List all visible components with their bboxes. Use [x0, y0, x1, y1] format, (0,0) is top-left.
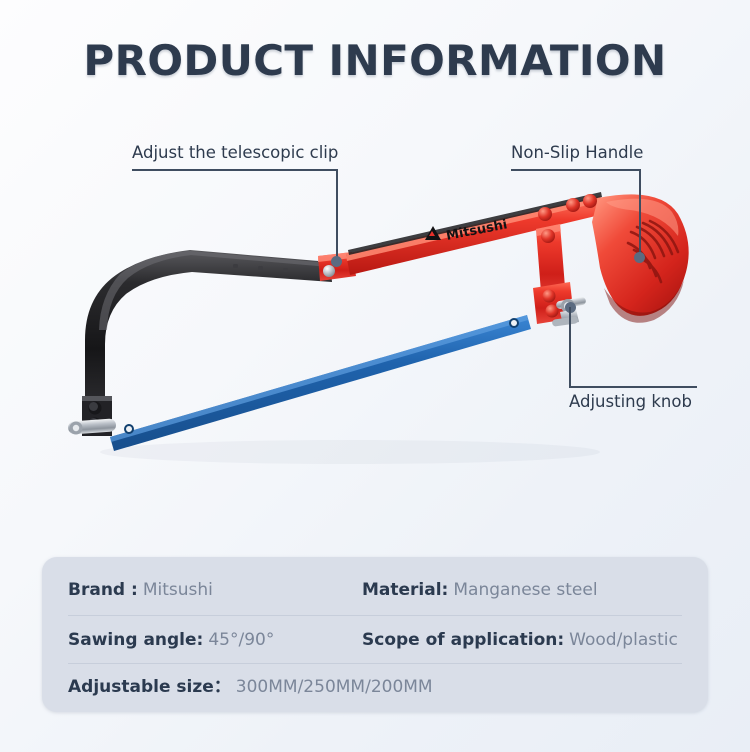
tool-shadow — [100, 440, 600, 464]
leader-line-knob-horizontal — [569, 386, 697, 388]
spec-cell-adjustable-size: Adjustable size：300MM/250MM/200MM — [68, 662, 433, 712]
spec-cell-brand: Brand :Mitsushi — [68, 565, 213, 615]
spec-label: Material: — [362, 580, 448, 600]
saw-blade — [110, 315, 531, 451]
callout-label-adjusting-knob: Adjusting knob — [569, 392, 692, 411]
leader-line-handle-horizontal — [511, 169, 641, 171]
hacksaw-svg: Mitsushi — [0, 0, 750, 540]
spec-label: Sawing angle: — [68, 630, 203, 650]
spec-label: Brand : — [68, 580, 138, 600]
product-information-page: PRODUCT INFORMATION — [0, 0, 750, 752]
leader-line-knob-vertical — [569, 307, 571, 387]
spec-value: Mitsushi — [138, 580, 213, 600]
spec-cell-sawing-angle: Sawing angle:45°/90° — [68, 615, 274, 665]
spec-cell-scope: Scope of application:Wood/plastic — [362, 615, 678, 665]
spec-value: Manganese steel — [448, 580, 597, 600]
spec-row: Adjustable size：300MM/250MM/200MM — [42, 662, 708, 712]
specification-panel: Brand :Mitsushi Material:Manganese steel… — [42, 557, 708, 712]
hacksaw-illustration: Mitsushi — [0, 0, 750, 540]
spec-row: Brand :Mitsushi Material:Manganese steel — [42, 565, 708, 615]
callout-label-telescopic-clip: Adjust the telescopic clip — [132, 143, 338, 162]
spec-label: Scope of application: — [362, 630, 564, 650]
leader-dot-handle — [634, 252, 645, 263]
clip-rivet — [323, 265, 335, 277]
spec-value: 45°/90° — [203, 630, 274, 650]
spec-label: Adjustable size： — [68, 677, 231, 697]
callout-label-non-slip-handle: Non-Slip Handle — [511, 143, 643, 162]
leader-line-handle-vertical — [639, 169, 641, 257]
leader-line-telescopic-clip-horizontal — [132, 169, 338, 171]
spec-value: Wood/plastic — [564, 630, 678, 650]
frame-black-arm — [85, 250, 332, 430]
spec-value: 300MM/250MM/200MM — [231, 677, 433, 697]
leader-dot-telescopic-clip — [331, 256, 342, 267]
spec-cell-material: Material:Manganese steel — [362, 565, 598, 615]
leader-line-telescopic-clip-vertical — [336, 169, 338, 261]
spec-row: Sawing angle:45°/90° Scope of applicatio… — [42, 615, 708, 665]
front-blade-mount — [68, 396, 117, 436]
